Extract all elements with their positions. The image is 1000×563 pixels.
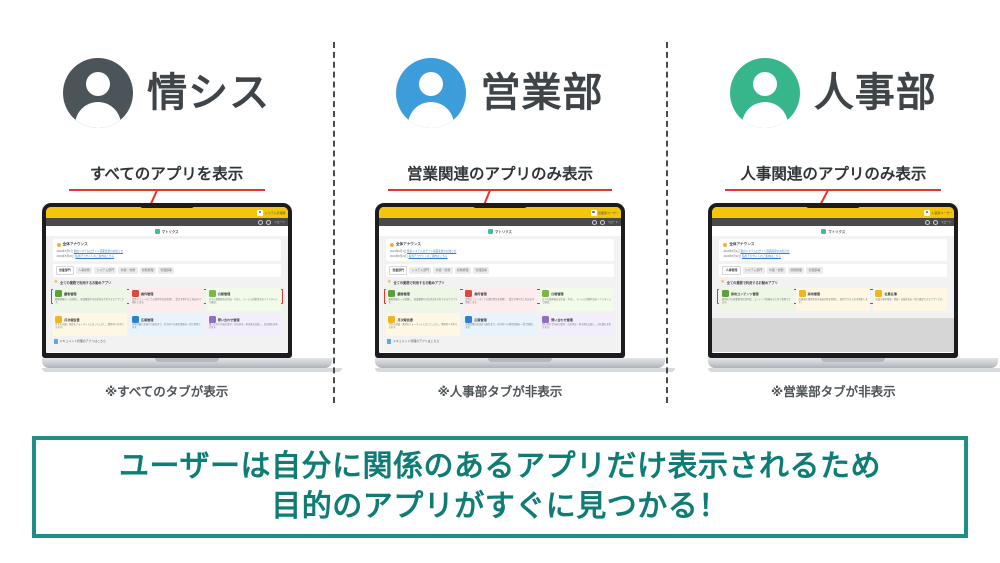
topbar-user-label: システム管理者: [265, 211, 286, 215]
app-body: マトリクス 全体アナウンス 2024年6月1日 勤怠システムログイン画面変更のお…: [712, 226, 954, 352]
app-name: 社員名簿: [884, 291, 896, 296]
laptop-joshisu: システム管理者 リロード マトリクス: [42, 203, 292, 372]
brand-logo-icon: [821, 229, 826, 234]
app-card-grid: 顧客管理 顧客情報の一元管理し、商談履歴や対応状況を共有できるアプリです。 案件…: [386, 288, 614, 337]
app-icon: [875, 290, 882, 297]
app-name: 問い合わせ管理: [551, 317, 573, 322]
tab-item[interactable]: 管理部署: [806, 267, 822, 273]
app-icon: [209, 290, 216, 297]
dept-name-joshisu: 情シス: [147, 73, 270, 113]
laptop-base: [42, 358, 332, 368]
tab-item[interactable]: 人事総務: [76, 267, 92, 273]
star-icon: ★: [387, 280, 391, 285]
app-desc: 顧客情報の一元管理し、商談履歴や対応状況を共有できるアプリです。: [55, 299, 124, 305]
app-name: 月次報告書: [397, 317, 412, 322]
app-desc: 応募者の選考状況や面接日程を管理し、採用プロセスを可視化します。: [799, 299, 868, 305]
app-desc: 顧客情報の一元管理し、商談履歴や対応状況を共有できるアプリです。: [388, 299, 457, 305]
announcement-link[interactable]: 私用アカウントのご案内はこちら: [409, 255, 448, 258]
toolbar-text[interactable]: リロード: [608, 220, 618, 224]
caption-joshisu: すべてのアプリを表示: [0, 162, 333, 191]
star-icon: ★: [720, 280, 724, 285]
tab-item[interactable]: 総務経理: [788, 267, 804, 273]
panels-row: 情シス すべてのアプリを表示 システム管理者: [0, 0, 1000, 415]
announcement-date: 2024年5月22日: [390, 255, 408, 258]
dept-name-jinji: 人事部: [814, 73, 937, 113]
brand-logo-icon: [155, 229, 160, 234]
laptop-foot: [42, 368, 342, 372]
laptop-eigyo: 営業部ユーザー リロード マトリクス: [375, 203, 625, 372]
gear-icon[interactable]: [925, 220, 930, 225]
announcement-date: 2024年6月1日: [390, 250, 406, 253]
empty-area: [712, 318, 954, 352]
panel-divider: [666, 42, 668, 403]
app-icon: [388, 316, 395, 323]
app-topbar: 人事部ユーザー: [712, 207, 954, 218]
brand-logo-icon: [488, 229, 493, 234]
app-card[interactable]: 案件管理 案件のフェーズごとの進捗状況を管理し、受注予測や売上見込を可視化します…: [463, 288, 537, 311]
avatar-body-icon: [75, 102, 121, 128]
app-desc: 広報活動の企画から配信まで、社内外への発信情報を一括で管理します。: [132, 324, 201, 330]
gear-icon[interactable]: [592, 220, 597, 225]
topbar-user[interactable]: 営業部ユーザー: [591, 210, 619, 216]
tab-item[interactable]: システム部門: [409, 267, 431, 273]
brand-name: マトリクス: [495, 229, 512, 234]
panel-divider: [333, 42, 335, 403]
app-card[interactable]: 採用管理 応募者の選考状況や面接日程を管理し、採用プロセスを可視化します。: [796, 288, 870, 311]
app-name: 採用コンテンツ管理: [731, 291, 759, 296]
announcement-link[interactable]: 勤怠システムログイン画面変更のお知らせ: [407, 250, 456, 253]
announcement-title: 全体アナウンス: [390, 242, 610, 247]
laptop-screen: 人事部ユーザー リロード マトリクス: [712, 207, 954, 353]
megaphone-icon: [723, 243, 727, 247]
subcaption-jinji: ※営業部タブが非表示: [667, 381, 1000, 400]
app-icon: [465, 316, 472, 323]
app-card[interactable]: 月次報告書 月次の実績・進捗をフォーマットに沿って入力し、関係者へ共有できます。: [386, 313, 460, 336]
app-desc: 社員の基本情報・所属・在籍状況を一覧で確認できるアプリです。: [875, 299, 944, 302]
subcaption-joshisu: ※すべてのタブが表示: [0, 381, 333, 400]
tab-item[interactable]: 管理部署: [473, 267, 489, 273]
avatar-jinji: [730, 58, 800, 128]
conclusion-box: ユーザーは自分に関係のあるアプリだけ表示されるため 目的のアプリがすぐに見つかる…: [32, 436, 968, 538]
section-title-text: 全ての業務で利用するお勧めアプリ: [393, 280, 444, 285]
caption-underline: [725, 189, 941, 191]
app-card-grid: 採用コンテンツ管理 採用向けの募集要項や説明会、コンテンツ情報をまとめて管理でき…: [719, 288, 947, 311]
app-toolbar: リロード: [712, 218, 954, 226]
document-link-text: ドキュメント管理のアプリはこちら: [393, 339, 439, 343]
app-name: 日報管理: [218, 291, 230, 296]
caption-text: すべてのアプリを表示: [0, 162, 333, 184]
app-desc: 月次の実績・進捗をフォーマットに沿って入力し、関係者へ共有できます。: [388, 324, 457, 330]
laptop-jinji: 人事部ユーザー リロード マトリクス: [708, 203, 958, 372]
department-tabs: 人事管理 システム部門 外販・総務 総務経理 管理部署: [719, 264, 947, 276]
avatar-head-icon: [86, 72, 110, 96]
avatar-joshisu: [63, 58, 133, 128]
announcement-title: 全体アナウンス: [723, 242, 943, 247]
app-name: 問い合わせ管理: [218, 317, 240, 322]
app-card[interactable]: 問い合わせ管理 問い合わせ内容の受付・対応状況・担当者を記録し、対応漏れを防ぎま…: [540, 313, 614, 336]
toolbar-text[interactable]: リロード: [941, 220, 951, 224]
section-title: ★ 全ての業務で利用するお勧めアプリ: [387, 280, 613, 285]
announcement-row: 2024年6月1日 勤怠システムログイン画面変更のお知らせ: [390, 249, 610, 253]
announcement-row: 2024年6月1日 勤怠システムログイン画面変更のお知らせ: [723, 249, 943, 253]
app-name: 案件管理: [474, 291, 486, 296]
panel-header-jinji: 人事部: [667, 56, 1000, 130]
user-avatar-icon: [257, 210, 263, 216]
app-icon: [55, 290, 62, 297]
app-desc: 採用向けの募集要項や説明会、コンテンツ情報をまとめて管理できます。: [722, 299, 791, 305]
camera-notch-icon: [472, 203, 528, 208]
app-card[interactable]: 顧客管理 顧客情報の一元管理し、商談履歴や対応状況を共有できるアプリです。: [386, 288, 460, 311]
announcement-row: 2024年5月22日 私用アカウントのご案内はこちら: [57, 254, 277, 258]
caption-eigyo: 営業関連のアプリのみ表示: [333, 162, 666, 191]
laptop-lid: 営業部ユーザー リロード マトリクス: [375, 203, 625, 358]
caption-text: 営業関連のアプリのみ表示: [333, 162, 666, 184]
announcement-date: 2024年5月22日: [723, 255, 741, 258]
app-name: 日報管理: [551, 291, 563, 296]
brand-name: マトリクス: [162, 229, 179, 234]
laptop-foot: [708, 368, 1000, 372]
announcement-card: 全体アナウンス 2024年6月1日 勤怠システムログイン画面変更のお知らせ 20…: [719, 239, 947, 261]
help-icon[interactable]: [266, 220, 271, 225]
app-desc: 案件のフェーズごとの進捗状況を管理し、受注予測や売上見込を可視化します。: [132, 299, 201, 305]
app-card[interactable]: 社員名簿 社員の基本情報・所属・在籍状況を一覧で確認できるアプリです。: [873, 288, 947, 311]
section-title: ★ 全ての業務で利用するお勧めアプリ: [54, 280, 280, 285]
section-title-text: 全ての業務で利用するお勧めアプリ: [60, 280, 111, 285]
brand-row: マトリクス: [712, 226, 954, 236]
user-avatar-icon: [924, 210, 930, 216]
star-icon: ★: [54, 280, 58, 285]
laptop-lid: システム管理者 リロード マトリクス: [42, 203, 292, 358]
announcement-link[interactable]: 私用アカウントのご案内はこちら: [742, 255, 781, 258]
app-card[interactable]: 問い合わせ管理 問い合わせ内容の受付・対応状況・担当者を記録し、対応漏れを防ぎま…: [206, 313, 280, 336]
app-icon: [132, 316, 139, 323]
document-link[interactable]: ドキュメント管理のアプリはこちら: [54, 339, 280, 344]
announcement-date: 2024年6月1日: [57, 250, 73, 253]
app-card[interactable]: 顧客管理 顧客情報の一元管理し、商談履歴や対応状況を共有できるアプリです。: [53, 288, 127, 311]
tab-item[interactable]: システム部門: [743, 267, 765, 273]
panel-joshisu: 情シス すべてのアプリを表示 システム管理者: [0, 0, 333, 415]
app-card[interactable]: 日報管理 日々の業務報告を作成・共有し、チームの活動状況をリアルタイムで確認。: [540, 288, 614, 311]
dept-name-eigyo: 営業部: [480, 73, 603, 113]
avatar-head-icon: [419, 72, 443, 96]
topbar-user[interactable]: システム管理者: [257, 210, 285, 216]
brand-row: マトリクス: [379, 226, 621, 236]
toolbar-text[interactable]: リロード: [274, 220, 284, 224]
app-icon: [209, 316, 216, 323]
app-desc: 広報活動の企画から配信まで、社内外への発信情報を一括で管理します。: [465, 324, 534, 330]
announcement-title-text: 全体アナウンス: [396, 242, 421, 247]
laptop-screen: システム管理者 リロード マトリクス: [46, 207, 288, 353]
app-toolbar: リロード: [46, 218, 288, 226]
tab-item[interactable]: 外販・総務: [118, 267, 137, 273]
app-name: 案件管理: [141, 291, 153, 296]
app-card-grid: 顧客管理 顧客情報の一元管理し、商談履歴や対応状況を共有できるアプリです。 案件…: [53, 288, 281, 337]
tab-item[interactable]: システム部門: [94, 267, 116, 273]
megaphone-icon: [390, 243, 394, 247]
conclusion-line-2: 目的のアプリがすぐに見つかる！: [271, 490, 729, 525]
tab-item[interactable]: 営業部門: [389, 266, 407, 274]
topbar-user-label: 営業部ユーザー: [598, 211, 619, 215]
app-topbar: システム管理者: [46, 207, 288, 218]
announcement-card: 全体アナウンス 2024年6月1日 勤怠システムログイン画面変更のお知らせ 20…: [386, 239, 614, 261]
subcaption-eigyo: ※人事部タブが非表示: [333, 381, 666, 400]
announcement-title: 全体アナウンス: [57, 242, 277, 247]
laptop-foot: [375, 368, 675, 372]
document-link[interactable]: ドキュメント管理のアプリはこちら: [387, 339, 613, 344]
department-tabs: 営業部門 システム部門 外販・総務 総務経理 管理部署: [386, 264, 614, 276]
announcement-date: 2024年6月1日: [723, 250, 739, 253]
laptop-screen: 営業部ユーザー リロード マトリクス: [379, 207, 621, 353]
tab-item[interactable]: 管理部署: [158, 267, 174, 273]
app-toolbar: リロード: [379, 218, 621, 226]
megaphone-icon: [57, 243, 61, 247]
document-icon: [387, 339, 391, 344]
tab-item[interactable]: 総務経理: [455, 267, 471, 273]
app-desc: 案件のフェーズごとの進捗状況を管理し、受注予測や売上見込を可視化します。: [465, 299, 534, 305]
app-icon: [465, 290, 472, 297]
avatar-body-icon: [742, 102, 788, 128]
tab-item[interactable]: 人事管理: [722, 266, 740, 274]
app-body: マトリクス 全体アナウンス 2024年6月1日 勤怠システムログイン画面変更のお…: [379, 226, 621, 352]
avatar-head-icon: [753, 72, 777, 96]
announcement-title-text: 全体アナウンス: [729, 242, 754, 247]
laptop-lid: 人事部ユーザー リロード マトリクス: [708, 203, 958, 358]
app-name: 広報管理: [141, 317, 153, 322]
announcement-date: 2024年5月22日: [57, 255, 75, 258]
caption-text: 人事関連のアプリのみ表示: [667, 162, 1000, 184]
app-desc: 日々の業務報告を作成・共有し、チームの活動状況をリアルタイムで確認。: [209, 299, 278, 305]
announcement-title-text: 全体アナウンス: [63, 242, 88, 247]
app-icon: [55, 316, 62, 323]
announcement-card: 全体アナウンス 2024年6月1日 勤怠システムログイン画面変更のお知らせ 20…: [53, 239, 281, 261]
app-name: 月次報告書: [64, 317, 79, 322]
tab-item[interactable]: 総務経理: [140, 267, 156, 273]
document-link-text: ドキュメント管理のアプリはこちら: [60, 339, 106, 343]
gear-icon[interactable]: [258, 220, 263, 225]
panel-header-joshisu: 情シス: [0, 56, 333, 130]
app-card[interactable]: 月次報告書 月次の実績・進捗をフォーマットに沿って入力し、関係者へ共有できます。: [53, 313, 127, 336]
help-icon[interactable]: [933, 220, 938, 225]
tab-item[interactable]: 営業部門: [56, 266, 74, 274]
panel-jinji: 人事部 人事関連のアプリのみ表示 人事部ユーザー: [667, 0, 1000, 415]
camera-notch-icon: [805, 203, 861, 208]
panel-eigyo: 営業部 営業関連のアプリのみ表示 営業部ユーザー: [333, 0, 666, 415]
help-icon[interactable]: [600, 220, 605, 225]
app-card[interactable]: 広報管理 広報活動の企画から配信まで、社内外への発信情報を一括で管理します。: [129, 313, 203, 336]
caption-jinji: 人事関連のアプリのみ表示: [667, 162, 1000, 191]
topbar-user[interactable]: 人事部ユーザー: [924, 210, 952, 216]
app-card[interactable]: 案件管理 案件のフェーズごとの進捗状況を管理し、受注予測や売上見込を可視化します…: [129, 288, 203, 311]
announcement-link[interactable]: 勤怠システムログイン画面変更のお知らせ: [740, 250, 789, 253]
app-desc: 日々の業務報告を作成・共有し、チームの活動状況をリアルタイムで確認。: [542, 299, 611, 305]
topbar-user-label: 人事部ユーザー: [931, 211, 952, 215]
announcement-link[interactable]: 私用アカウントのご案内はこちら: [75, 255, 114, 258]
app-desc: 問い合わせ内容の受付・対応状況・担当者を記録し、対応漏れを防ぎます。: [542, 324, 611, 330]
caption-underline: [69, 189, 265, 191]
app-desc: 月次の実績・進捗をフォーマットに沿って入力し、関係者へ共有できます。: [55, 324, 124, 330]
app-icon: [799, 290, 806, 297]
brand-name: マトリクス: [828, 229, 845, 234]
app-topbar: 営業部ユーザー: [379, 207, 621, 218]
conclusion-line-1: ユーザーは自分に関係のあるアプリだけ表示されるため: [119, 450, 881, 485]
tab-item[interactable]: 外販・総務: [433, 267, 452, 273]
caption-underline: [388, 189, 612, 191]
user-avatar-icon: [591, 210, 597, 216]
app-icon: [542, 290, 549, 297]
app-icon: [388, 290, 395, 297]
app-icon: [542, 316, 549, 323]
app-icon: [722, 290, 729, 297]
announcement-row: 2024年5月22日 私用アカウントのご案内はこちら: [723, 254, 943, 258]
announcement-row: 2024年5月22日 私用アカウントのご案内はこちら: [390, 254, 610, 258]
announcement-row: 2024年6月1日 勤怠システムログイン画面変更のお知らせ: [57, 249, 277, 253]
app-name: 採用管理: [808, 291, 820, 296]
tab-item[interactable]: 外販・総務: [767, 267, 786, 273]
app-icon: [132, 290, 139, 297]
laptop-base: [375, 358, 665, 368]
department-tabs: 営業部門 人事総務 システム部門 外販・総務 総務経理 管理部署: [53, 264, 281, 276]
section-title: ★ 全ての業務で利用するお勧めアプリ: [720, 280, 946, 285]
laptop-base: [708, 358, 998, 368]
camera-notch-icon: [139, 203, 195, 208]
app-desc: 問い合わせ内容の受付・対応状況・担当者を記録し、対応漏れを防ぎます。: [209, 324, 278, 330]
avatar-eigyo: [396, 58, 466, 128]
app-card[interactable]: 日報管理 日々の業務報告を作成・共有し、チームの活動状況をリアルタイムで確認。: [206, 288, 280, 311]
avatar-body-icon: [408, 102, 454, 128]
announcement-link[interactable]: 勤怠システムログイン画面変更のお知らせ: [74, 250, 123, 253]
app-name: 顧客管理: [64, 291, 76, 296]
brand-row: マトリクス: [46, 226, 288, 236]
app-name: 広報管理: [474, 317, 486, 322]
panel-header-eigyo: 営業部: [333, 56, 666, 130]
section-title-text: 全ての業務で利用するお勧めアプリ: [727, 280, 778, 285]
app-body: マトリクス 全体アナウンス 2024年6月1日 勤怠システムログイン画面変更のお…: [46, 226, 288, 352]
app-card[interactable]: 採用コンテンツ管理 採用向けの募集要項や説明会、コンテンツ情報をまとめて管理でき…: [719, 288, 793, 311]
app-name: 顧客管理: [397, 291, 409, 296]
document-icon: [54, 339, 58, 344]
app-card[interactable]: 広報管理 広報活動の企画から配信まで、社内外への発信情報を一括で管理します。: [463, 313, 537, 336]
